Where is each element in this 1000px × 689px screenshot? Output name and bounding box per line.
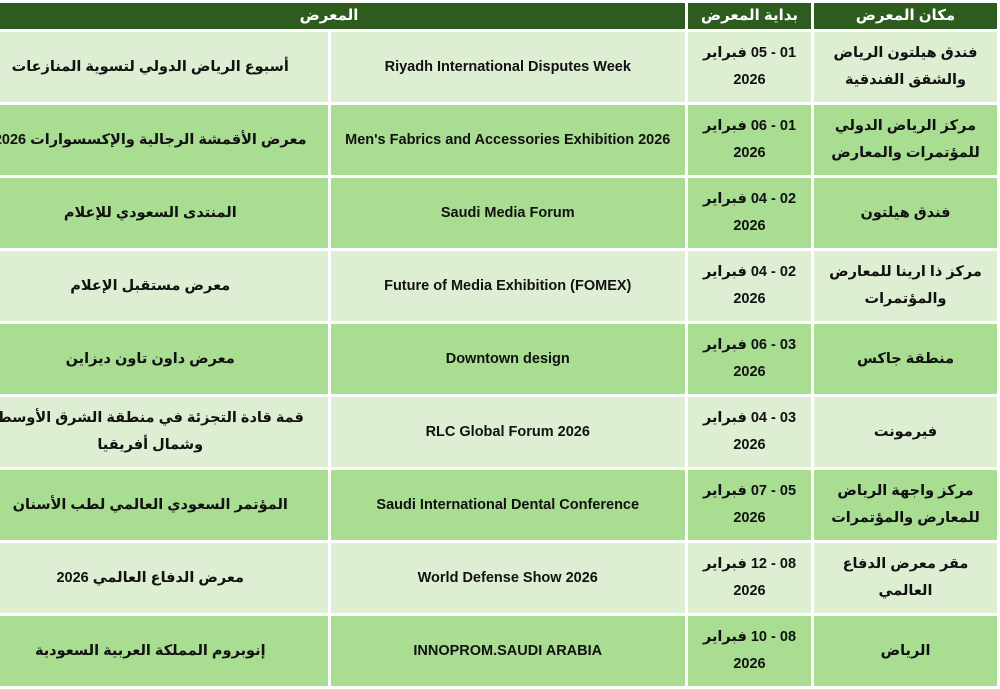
cell-start-date: 03 - 06 فبراير2026 bbox=[688, 324, 811, 394]
cell-start-date: 03 - 04 فبراير2026 bbox=[688, 397, 811, 467]
date-range: 02 - 04 فبراير bbox=[696, 186, 803, 213]
cell-name-english: Saudi International Dental Conference bbox=[331, 470, 686, 540]
cell-venue: منطقة جاكس bbox=[814, 324, 997, 394]
cell-name-arabic: إنوبروم المملكة العربية السعودية bbox=[0, 616, 328, 686]
table-row: مركز ذا ارينا للمعارض والمؤتمرات 02 - 04… bbox=[0, 251, 997, 321]
cell-name-arabic: أسبوع الرياض الدولي لتسوية المنازعات bbox=[0, 32, 328, 102]
cell-name-english: Riyadh International Disputes Week bbox=[331, 32, 686, 102]
cell-name-english: RLC Global Forum 2026 bbox=[331, 397, 686, 467]
cell-venue: الرياض bbox=[814, 616, 997, 686]
cell-name-english: Saudi Media Forum bbox=[331, 178, 686, 248]
date-range: 03 - 04 فبراير bbox=[696, 405, 803, 432]
table-header: مكان المعرض بداية المعرض المعرض bbox=[0, 3, 997, 29]
cell-venue: مركز واجهة الرياض للمعارض والمؤتمرات bbox=[814, 470, 997, 540]
date-range: 08 - 12 فبراير bbox=[696, 551, 803, 578]
cell-venue: مقر معرض الدفاع العالمي bbox=[814, 543, 997, 613]
cell-venue: مركز الرياض الدولي للمؤتمرات والمعارض bbox=[814, 105, 997, 175]
cell-start-date: 01 - 06 فبراير2026 bbox=[688, 105, 811, 175]
table-row: منطقة جاكس 03 - 06 فبراير2026 Downtown d… bbox=[0, 324, 997, 394]
cell-start-date: 08 - 10 فبراير2026 bbox=[688, 616, 811, 686]
cell-name-english: Downtown design bbox=[331, 324, 686, 394]
date-range: 01 - 05 فبراير bbox=[696, 40, 803, 67]
cell-venue: فندق هيلتون bbox=[814, 178, 997, 248]
column-header-exhibition: المعرض bbox=[0, 3, 685, 29]
cell-start-date: 05 - 07 فبراير2026 bbox=[688, 470, 811, 540]
table-row: مركز الرياض الدولي للمؤتمرات والمعارض 01… bbox=[0, 105, 997, 175]
table-row: فيرمونت 03 - 04 فبراير2026 RLC Global Fo… bbox=[0, 397, 997, 467]
table-header-row: مكان المعرض بداية المعرض المعرض bbox=[0, 3, 997, 29]
date-year: 2026 bbox=[696, 359, 803, 386]
cell-name-arabic: قمة قادة التجزئة في منطقة الشرق الأوسط و… bbox=[0, 397, 328, 467]
table-row: الرياض 08 - 10 فبراير2026 INNOPROM.SAUDI… bbox=[0, 616, 997, 686]
table-body: فندق هيلتون الرياض والشقق الفندقية 01 - … bbox=[0, 32, 997, 686]
date-year: 2026 bbox=[696, 651, 803, 678]
cell-start-date: 02 - 04 فبراير2026 bbox=[688, 251, 811, 321]
date-range: 05 - 07 فبراير bbox=[696, 478, 803, 505]
exhibitions-table: مكان المعرض بداية المعرض المعرض فندق هيل… bbox=[0, 0, 1000, 689]
cell-venue: فندق هيلتون الرياض والشقق الفندقية bbox=[814, 32, 997, 102]
cell-start-date: 02 - 04 فبراير2026 bbox=[688, 178, 811, 248]
cell-venue: فيرمونت bbox=[814, 397, 997, 467]
cell-name-arabic: المنتدى السعودي للإعلام bbox=[0, 178, 328, 248]
date-year: 2026 bbox=[696, 67, 803, 94]
cell-name-arabic: معرض مستقبل الإعلام bbox=[0, 251, 328, 321]
date-year: 2026 bbox=[696, 505, 803, 532]
table-row: فندق هيلتون 02 - 04 فبراير2026 Saudi Med… bbox=[0, 178, 997, 248]
cell-name-arabic: معرض الدفاع العالمي 2026 bbox=[0, 543, 328, 613]
column-header-venue: مكان المعرض bbox=[814, 3, 997, 29]
table-row: مقر معرض الدفاع العالمي 08 - 12 فبراير20… bbox=[0, 543, 997, 613]
cell-name-english: INNOPROM.SAUDI ARABIA bbox=[331, 616, 686, 686]
cell-name-english: Men's Fabrics and Accessories Exhibition… bbox=[331, 105, 686, 175]
date-year: 2026 bbox=[696, 578, 803, 605]
date-range: 02 - 04 فبراير bbox=[696, 259, 803, 286]
date-year: 2026 bbox=[696, 213, 803, 240]
date-range: 08 - 10 فبراير bbox=[696, 624, 803, 651]
date-year: 2026 bbox=[696, 286, 803, 313]
table-row: فندق هيلتون الرياض والشقق الفندقية 01 - … bbox=[0, 32, 997, 102]
cell-name-arabic: معرض داون تاون ديزاين bbox=[0, 324, 328, 394]
date-range: 01 - 06 فبراير bbox=[696, 113, 803, 140]
date-year: 2026 bbox=[696, 140, 803, 167]
column-header-start-date: بداية المعرض bbox=[688, 3, 811, 29]
cell-start-date: 08 - 12 فبراير2026 bbox=[688, 543, 811, 613]
cell-venue: مركز ذا ارينا للمعارض والمؤتمرات bbox=[814, 251, 997, 321]
cell-name-english: World Defense Show 2026 bbox=[331, 543, 686, 613]
table-row: مركز واجهة الرياض للمعارض والمؤتمرات 05 … bbox=[0, 470, 997, 540]
date-year: 2026 bbox=[696, 432, 803, 459]
cell-name-english: Future of Media Exhibition (FOMEX) bbox=[331, 251, 686, 321]
date-range: 03 - 06 فبراير bbox=[696, 332, 803, 359]
cell-start-date: 01 - 05 فبراير2026 bbox=[688, 32, 811, 102]
cell-name-arabic: المؤتمر السعودي العالمي لطب الأسنان bbox=[0, 470, 328, 540]
cell-name-arabic: معرض الأقمشة الرجالية والإكسسوارات 2026 bbox=[0, 105, 328, 175]
